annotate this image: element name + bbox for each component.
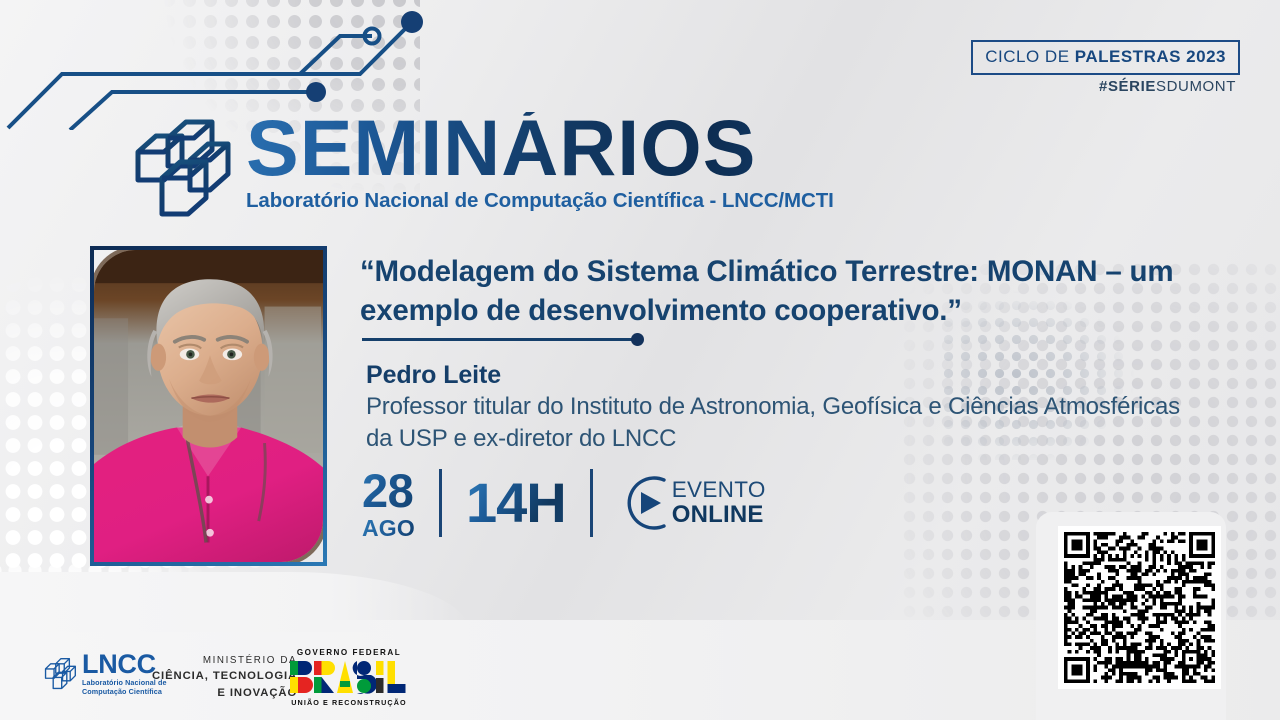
event-meta-row: 28 AGO 14H EVENTO ONLINE (362, 466, 766, 540)
event-online-text: EVENTO ONLINE (672, 479, 766, 528)
lncc-logo: LNCC Laboratório Nacional de Computação … (43, 652, 167, 696)
series-badge: CICLO DE PALESTRAS 2023 (971, 40, 1240, 75)
speaker-name: Pedro Leite (366, 361, 501, 390)
ministry-logo: MINISTÉRIO DA CIÊNCIA, TECNOLOGIA E INOV… (152, 654, 297, 701)
seminar-poster: CICLO DE PALESTRAS 2023 #SÉRIESDUMONT (0, 0, 1280, 720)
event-online-block: EVENTO ONLINE (617, 471, 766, 535)
lncc-cubes-mark-icon (43, 657, 77, 691)
series-hashtag: #SÉRIESDUMONT (1099, 78, 1236, 95)
lncc-cubes-logo-icon (128, 116, 232, 222)
event-date: 28 AGO (362, 467, 415, 540)
talk-title: “Modelagem do Sistema Climático Terrestr… (360, 252, 1210, 330)
circuit-node-filled-upper (401, 11, 423, 33)
speaker-photo (94, 250, 323, 562)
event-time: 14H (466, 475, 566, 531)
page-title: SEMINÁRIOS (246, 112, 834, 185)
government-logo: GOVERNO FEDERAL UNIÃO E R (288, 648, 410, 707)
event-online-bottom: ONLINE (672, 503, 766, 527)
title-divider (362, 338, 639, 341)
government-bottom-label: UNIÃO E RECONSTRUÇÃO (288, 698, 410, 707)
circuit-node-filled-lower (306, 82, 326, 102)
speaker-portrait-illustration (94, 250, 323, 562)
ministry-line-2: CIÊNCIA, TECNOLOGIA (152, 668, 297, 684)
series-hashtag-bold: #SÉRIE (1099, 78, 1156, 95)
qr-code[interactable] (1064, 532, 1215, 683)
speaker-role: Professor titular do Instituto de Astron… (366, 391, 1186, 455)
brand-subtitle: Laboratório Nacional de Computação Cient… (246, 189, 834, 213)
speaker-photo-frame (90, 246, 327, 566)
ministry-line-3: E INOVAÇÃO (152, 685, 297, 701)
footer-band-curve (0, 572, 470, 632)
brasil-wordmark-icon (288, 659, 408, 695)
government-top-label: GOVERNO FEDERAL (288, 648, 410, 657)
qr-panel[interactable] (1036, 512, 1226, 720)
event-month: AGO (362, 517, 415, 540)
meta-separator-2 (590, 469, 593, 537)
meta-separator-1 (439, 469, 442, 537)
series-badge-bold: PALESTRAS 2023 (1075, 47, 1226, 66)
series-hashtag-light: SDUMONT (1156, 78, 1236, 95)
brand-block: SEMINÁRIOS Laboratório Nacional de Compu… (128, 112, 834, 222)
qr-code-frame[interactable] (1058, 526, 1221, 689)
ministry-line-1: MINISTÉRIO DA (152, 654, 297, 668)
event-day: 28 (362, 467, 415, 514)
event-online-top: EVENTO (672, 479, 766, 502)
series-badge-prefix: CICLO DE (985, 47, 1075, 66)
